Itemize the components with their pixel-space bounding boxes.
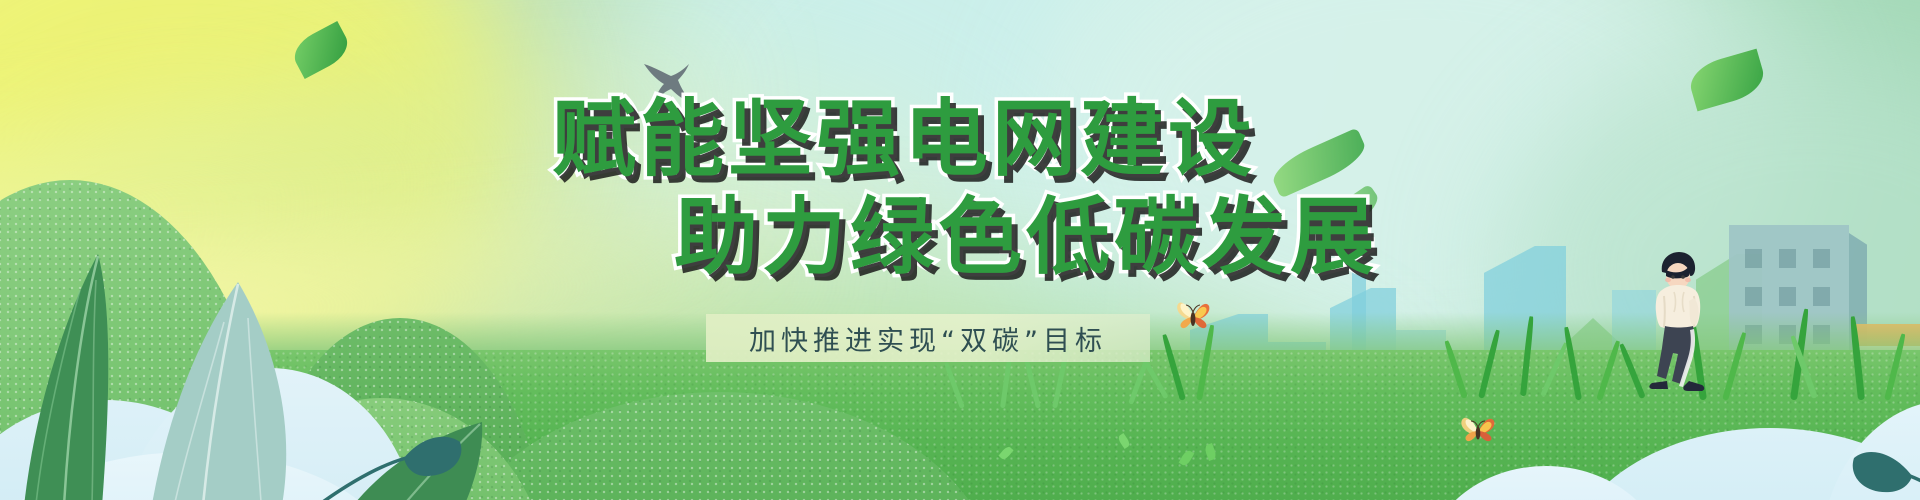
leaf-stem (320, 458, 406, 500)
leaf-blade-right (1853, 452, 1912, 492)
leaf-stem-right (1910, 476, 1920, 500)
headline-line-2-text: 助力绿色低碳发展 (674, 170, 1378, 291)
small-leaf-with-stem-right (1846, 420, 1920, 500)
person-shoe-left (1649, 381, 1668, 389)
butterfly-wings-upper (1177, 303, 1209, 329)
headline-line-2: 助力绿色低碳发展 (0, 170, 1920, 291)
person-shoe-right (1683, 381, 1704, 391)
butterfly-wings-lower (1461, 418, 1494, 441)
subtitle-text: 加快推进实现“双碳”目标 (749, 319, 1107, 358)
banner-root: 赋能坚强电网建设 助力绿色低碳发展 加快推进实现“双碳”目标 (0, 0, 1920, 500)
butterfly-upper (1173, 296, 1213, 334)
small-leaf-with-stem (318, 400, 488, 500)
butterfly-lower (1456, 412, 1500, 448)
subtitle-band: 加快推进实现“双碳”目标 (706, 314, 1150, 362)
leaf-blade (404, 437, 461, 476)
person-trousers (1657, 326, 1694, 384)
